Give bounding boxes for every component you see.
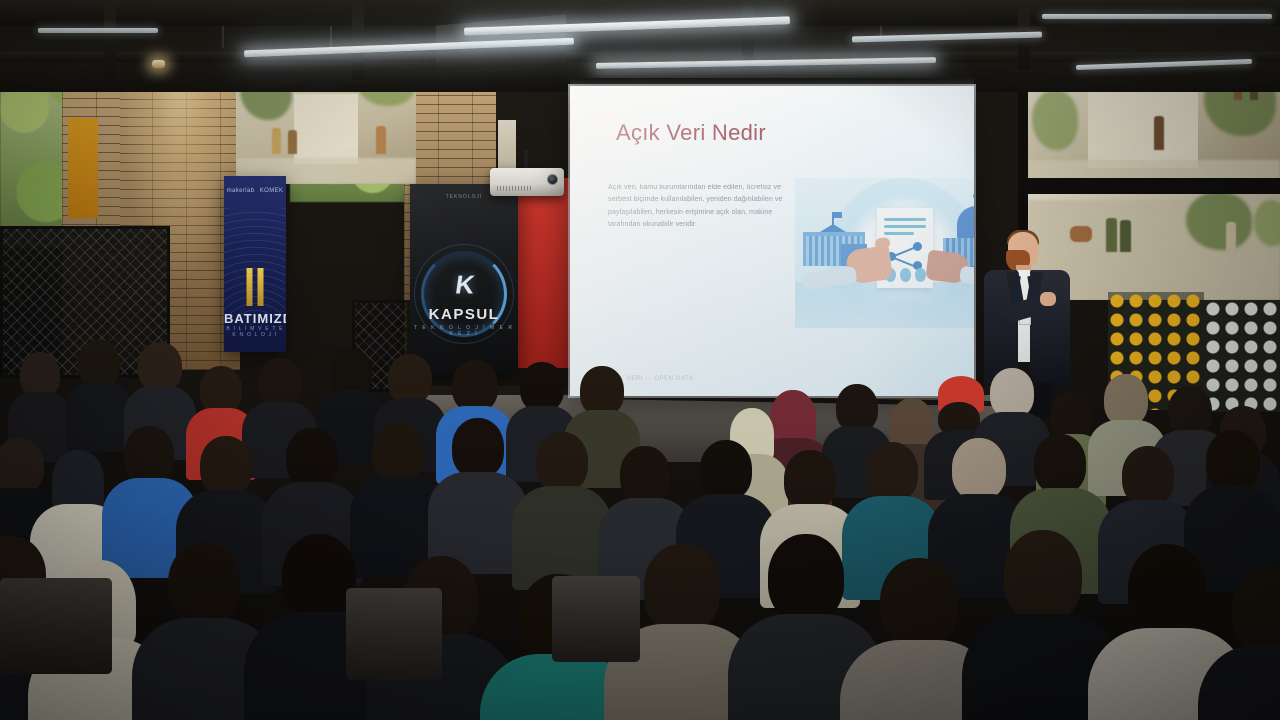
slide-title: Açık Veri Nedir bbox=[616, 120, 766, 146]
banner-blue-title: BATIMIZDAKİ bbox=[224, 311, 286, 326]
banner-blue-right-label: KOMEK bbox=[260, 188, 284, 194]
orange-wall-panel bbox=[68, 118, 98, 218]
slide-body-text: Açık veri, kamu kurumlarından elde edile… bbox=[608, 182, 786, 231]
led-strip-5 bbox=[38, 28, 158, 33]
light-hanger-2 bbox=[330, 26, 332, 48]
hand-left-icon bbox=[845, 245, 893, 285]
share-network-icon bbox=[887, 242, 923, 270]
chair bbox=[552, 576, 640, 662]
projector-mount-rod bbox=[524, 150, 528, 170]
banner-blue-top-labels: makerlab KOMEK bbox=[224, 188, 286, 194]
ceiling-beam-horizontal-mid bbox=[0, 52, 1280, 62]
presenter-hand bbox=[1040, 292, 1056, 306]
illustration-ground bbox=[795, 282, 974, 328]
projector-vents bbox=[497, 186, 531, 191]
banner-yellow-bars bbox=[247, 268, 264, 306]
screen-top-casing bbox=[570, 78, 974, 86]
audience bbox=[0, 330, 1280, 720]
banner-blue-left-label: makerlab bbox=[227, 188, 255, 194]
banner-blue: makerlab KOMEK BATIMIZDAKİ B İ L İ M V E… bbox=[224, 176, 286, 352]
presentation-hall-photo: Açık Veri Nedir Açık veri, kamu kurumlar… bbox=[0, 0, 1280, 720]
led-strip-7 bbox=[1042, 14, 1272, 19]
projector-lens-icon bbox=[547, 174, 558, 185]
ceiling-beam-vertical-b bbox=[352, 0, 364, 80]
mural-divider-beam bbox=[1022, 178, 1280, 194]
chair bbox=[346, 588, 442, 680]
light-hanger-1 bbox=[222, 26, 224, 48]
projector[interactable] bbox=[490, 168, 564, 196]
wall-spot-lamp bbox=[152, 60, 165, 68]
ceiling-beam-vertical-a bbox=[104, 0, 116, 92]
ceiling-beam-vertical-c bbox=[742, 0, 754, 62]
chair bbox=[0, 578, 112, 674]
kapsul-name: KAPSUL bbox=[410, 306, 518, 323]
open-data-sharing-illustration bbox=[795, 178, 974, 328]
